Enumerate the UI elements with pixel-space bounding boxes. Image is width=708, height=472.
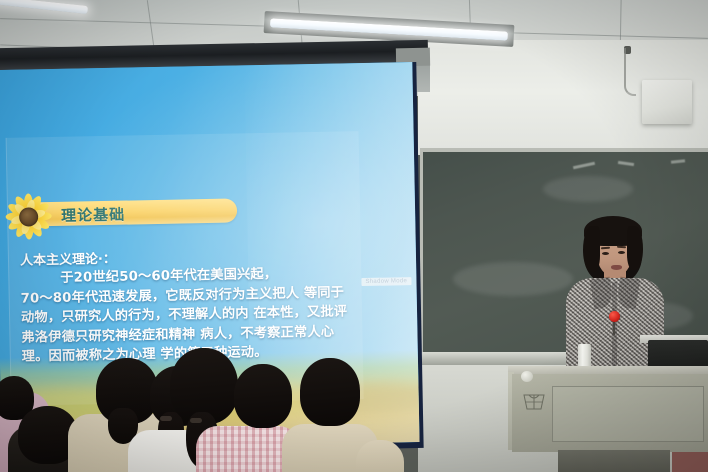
seat-corner xyxy=(672,452,708,472)
lecturer-eye-left xyxy=(602,252,609,255)
lecturer-hair-right xyxy=(627,226,643,270)
lectern-front-panel xyxy=(552,386,704,442)
lecturer-hair-left xyxy=(583,226,600,272)
lectern-knob xyxy=(521,371,533,382)
lecturer-eye-right xyxy=(618,251,625,254)
university-crest-emblem-icon xyxy=(521,390,547,412)
lecturer-microphone xyxy=(613,321,615,335)
classroom-lecture-scene: 理论基础 人本主义理论·： 于20世纪50～60年代在美国兴起， 70～80年代… xyxy=(0,0,708,472)
hanging-cable xyxy=(624,48,636,96)
slide-title: 理论基础 xyxy=(61,204,125,226)
shadow-mode-watermark: Shadow Mode xyxy=(361,277,411,286)
audience xyxy=(0,330,480,472)
student-head-6 xyxy=(234,364,292,428)
slide-lead-heading: 人本主义理论·： xyxy=(20,248,116,269)
slide-body-line-2: 70～80年代迅速发展，它既反对行为主义把人 xyxy=(21,286,300,306)
sunflower-icon xyxy=(5,193,52,240)
slide-title-banner xyxy=(27,198,237,226)
student-hairband-4 xyxy=(160,416,172,421)
student-torso-8 xyxy=(356,440,404,472)
wall-mounted-unit xyxy=(642,80,692,124)
student-head-7 xyxy=(300,358,360,426)
lectern-base xyxy=(558,450,670,472)
student-hairband-5 xyxy=(190,418,202,423)
lecturer-badge xyxy=(609,311,620,322)
